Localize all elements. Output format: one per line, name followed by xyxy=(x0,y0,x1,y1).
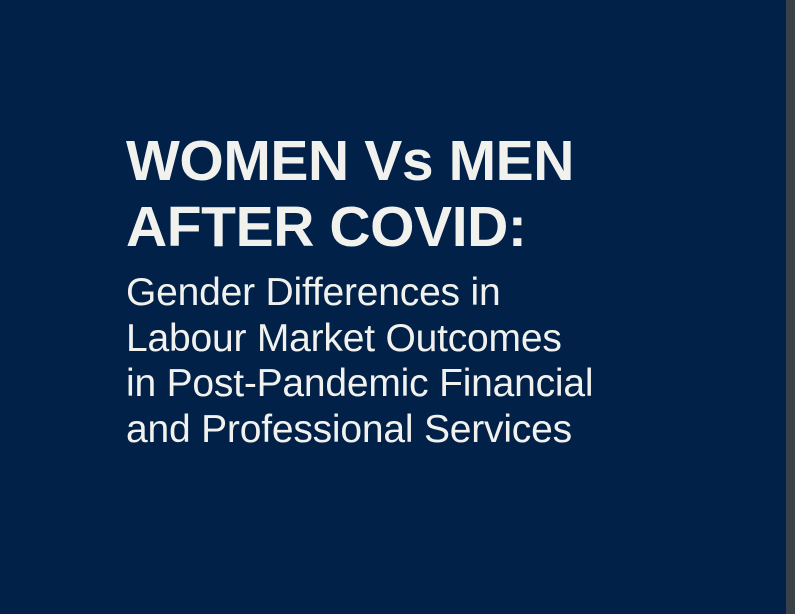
cover-title: WOMEN Vs MEN AFTER COVID: xyxy=(126,128,726,260)
cover-subtitle-line-1: Gender Differences in xyxy=(126,270,746,316)
report-cover-page: WOMEN Vs MEN AFTER COVID: Gender Differe… xyxy=(0,0,795,614)
page-edge-strip-right xyxy=(786,0,795,614)
cover-subtitle: Gender Differences in Labour Market Outc… xyxy=(126,270,746,452)
cover-subtitle-line-4: and Professional Services xyxy=(126,407,746,453)
cover-title-line-1: WOMEN Vs MEN xyxy=(126,128,726,194)
cover-subtitle-line-2: Labour Market Outcomes xyxy=(126,316,746,362)
cover-subtitle-line-3: in Post-Pandemic Financial xyxy=(126,361,746,407)
cover-title-line-2: AFTER COVID: xyxy=(126,194,726,260)
